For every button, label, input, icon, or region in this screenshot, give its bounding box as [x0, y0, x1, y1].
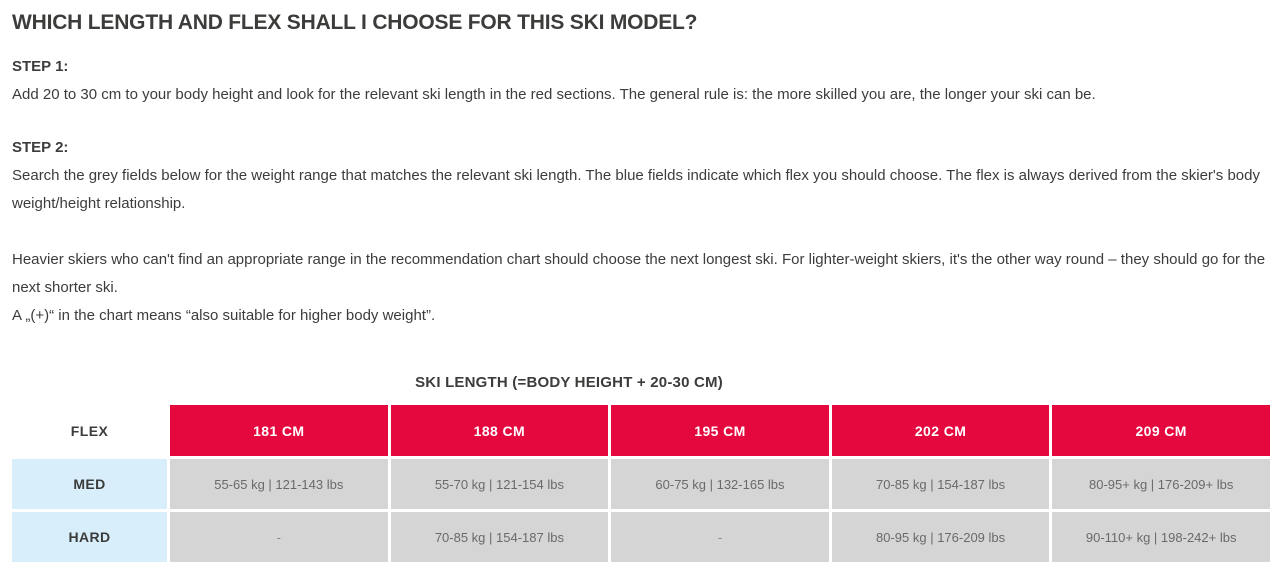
notes-block: Heavier skiers who can't find an appropr…	[12, 246, 1266, 330]
chart-header-cell-181: 181 CM	[170, 405, 388, 456]
ski-size-guide-page: WHICH LENGTH AND FLEX SHALL I CHOOSE FOR…	[0, 0, 1278, 570]
chart-header-cell-202: 202 CM	[832, 405, 1050, 456]
chart-header-cell-195: 195 CM	[611, 405, 829, 456]
table-row: HARD - 70-85 kg | 154-187 lbs - 80-95 kg…	[12, 512, 1270, 562]
chart-cell-med-181: 55-65 kg | 121-143 lbs	[170, 459, 388, 509]
step-2-block: STEP 2: Search the grey fields below for…	[12, 137, 1266, 218]
chart-cell-hard-188: 70-85 kg | 154-187 lbs	[391, 512, 609, 562]
chart-cell-med-209: 80-95+ kg | 176-209+ lbs	[1052, 459, 1270, 509]
flex-length-chart: FLEX 181 CM 188 CM 195 CM 202 CM 209 CM …	[12, 405, 1270, 562]
table-row: MED 55-65 kg | 121-143 lbs 55-70 kg | 12…	[12, 459, 1270, 509]
chart-header-cell-209: 209 CM	[1052, 405, 1270, 456]
chart-title: SKI LENGTH (=BODY HEIGHT + 20-30 CM)	[12, 374, 1266, 391]
step-2-label: STEP 2:	[12, 137, 1266, 159]
step-2-text: Search the grey fields below for the wei…	[12, 162, 1266, 218]
chart-row-label-med: MED	[12, 459, 167, 509]
note-plus-symbol-meaning: A „(+)“ in the chart means “also suitabl…	[12, 302, 1266, 330]
chart-cell-hard-195: -	[611, 512, 829, 562]
chart-corner-label: FLEX	[12, 405, 167, 456]
chart-header-cell-188: 188 CM	[391, 405, 609, 456]
chart-cell-med-188: 55-70 kg | 121-154 lbs	[391, 459, 609, 509]
chart-cell-hard-202: 80-95 kg | 176-209 lbs	[832, 512, 1050, 562]
chart-cell-hard-181: -	[170, 512, 388, 562]
chart-cell-med-195: 60-75 kg | 132-165 lbs	[611, 459, 829, 509]
page-title: WHICH LENGTH AND FLEX SHALL I CHOOSE FOR…	[12, 0, 1266, 36]
chart-header-row: FLEX 181 CM 188 CM 195 CM 202 CM 209 CM	[12, 405, 1270, 456]
note-heavier-lighter-skiers: Heavier skiers who can't find an appropr…	[12, 246, 1266, 302]
step-1-label: STEP 1:	[12, 56, 1266, 78]
step-1-text: Add 20 to 30 cm to your body height and …	[12, 81, 1266, 109]
step-1-block: STEP 1: Add 20 to 30 cm to your body hei…	[12, 56, 1266, 109]
chart-cell-med-202: 70-85 kg | 154-187 lbs	[832, 459, 1050, 509]
chart-row-label-hard: HARD	[12, 512, 167, 562]
chart-cell-hard-209: 90-110+ kg | 198-242+ lbs	[1052, 512, 1270, 562]
